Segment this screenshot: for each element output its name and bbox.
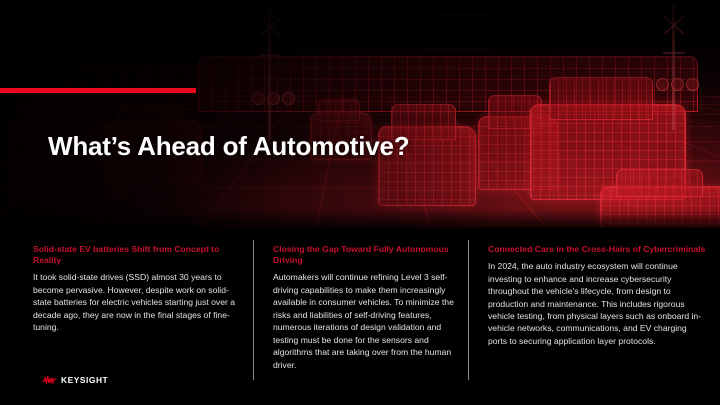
keysight-waveform-icon: [42, 375, 57, 385]
accent-bar: [0, 88, 196, 93]
slide-root: What’s Ahead of Automotive? Solid-state …: [0, 0, 720, 405]
column-heading: Solid-state EV batteries Shift from Conc…: [33, 244, 237, 266]
content-columns: Solid-state EV batteries Shift from Conc…: [0, 236, 720, 384]
hero-bottom-fade: [0, 210, 720, 228]
keysight-logo: KEYSIGHT: [42, 375, 108, 385]
keysight-logo-text: KEYSIGHT: [61, 375, 108, 385]
content-column-1: Solid-state EV batteries Shift from Conc…: [0, 236, 253, 384]
column-body: In 2024, the auto industry ecosystem wil…: [488, 260, 706, 347]
hero-left-vignette: [0, 0, 720, 228]
column-heading: Connected Cars in the Cross-Hairs of Cyb…: [488, 244, 706, 255]
column-divider: [468, 240, 469, 380]
column-heading: Closing the Gap Toward Fully Autonomous …: [273, 244, 454, 266]
page-title: What’s Ahead of Automotive?: [48, 131, 409, 162]
column-body: Automakers will continue refining Level …: [273, 271, 454, 371]
content-column-3: Connected Cars in the Cross-Hairs of Cyb…: [468, 236, 720, 384]
column-body: It took solid-state drives (SSD) almost …: [33, 271, 237, 333]
hero-image: [0, 0, 720, 228]
column-divider: [253, 240, 254, 380]
content-column-2: Closing the Gap Toward Fully Autonomous …: [253, 236, 468, 384]
